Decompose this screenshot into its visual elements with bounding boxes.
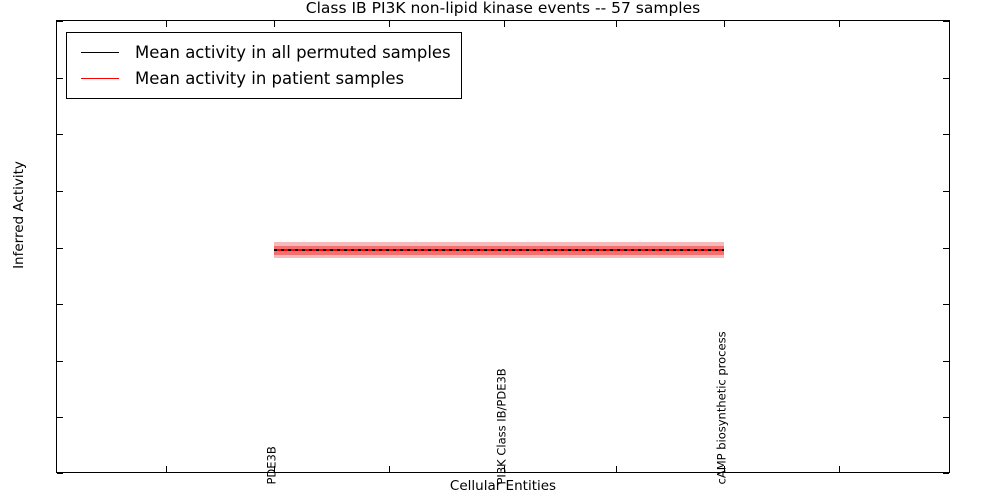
chart-legend: Mean activity in all permuted samples Me… (66, 32, 462, 99)
legend-line-swatch-black-icon (81, 52, 119, 53)
y-tick-mark-right (943, 361, 949, 362)
y-tick-mark-right (943, 134, 949, 135)
y-tick-mark-right (943, 191, 949, 192)
x-tick-mark (389, 466, 390, 472)
x-tick-mark (616, 466, 617, 472)
y-tick-mark (57, 304, 63, 305)
y-tick-mark-right (943, 417, 949, 418)
y-tick-mark-right (943, 248, 949, 249)
entity-label-camp-biosynthetic-process: cAMP biosynthetic process (717, 331, 729, 484)
x-tick-mark (166, 466, 167, 472)
x-tick-mark-top (166, 21, 167, 27)
legend-label-permuted: Mean activity in all permuted samples (135, 43, 451, 62)
y-tick-mark (57, 78, 63, 79)
entity-label-pi3k-class-ib-pde3b: PI3K Class IB/PDE3B (497, 368, 509, 484)
x-tick-mark-top (389, 21, 390, 27)
y-tick-mark-right (943, 21, 949, 22)
y-tick-mark (57, 417, 63, 418)
y-tick-mark (57, 248, 63, 249)
y-tick-mark (57, 134, 63, 135)
plot-area: 4 3 2 1 0 −1 −2 −3 −4 (56, 20, 950, 473)
x-tick-mark (839, 466, 840, 472)
x-tick-mark-top (839, 21, 840, 27)
y-tick-mark (57, 473, 63, 474)
legend-item-patient: Mean activity in patient samples (77, 65, 451, 91)
entity-label-pde3b: PDE3B (267, 446, 279, 484)
x-tick-mark-top (616, 21, 617, 27)
y-tick-mark-right (943, 78, 949, 79)
legend-item-permuted: Mean activity in all permuted samples (77, 39, 451, 65)
y-tick-mark (57, 191, 63, 192)
x-tick-mark-top (504, 21, 505, 27)
legend-label-patient: Mean activity in patient samples (135, 69, 404, 88)
y-tick-mark-right (943, 304, 949, 305)
y-tick-mark (57, 21, 63, 22)
y-tick-mark (57, 361, 63, 362)
chart-title: Class IB PI3K non-lipid kinase events --… (56, 0, 950, 18)
permuted-mean-line (274, 249, 724, 251)
y-tick-mark-right (943, 473, 949, 474)
x-tick-mark-top (274, 21, 275, 27)
y-axis-label: Inferred Activity (11, 135, 27, 295)
legend-line-swatch-red-icon (81, 78, 119, 79)
chart-figure: Class IB PI3K non-lipid kinase events --… (0, 0, 1000, 500)
x-tick-mark-top (724, 21, 725, 27)
